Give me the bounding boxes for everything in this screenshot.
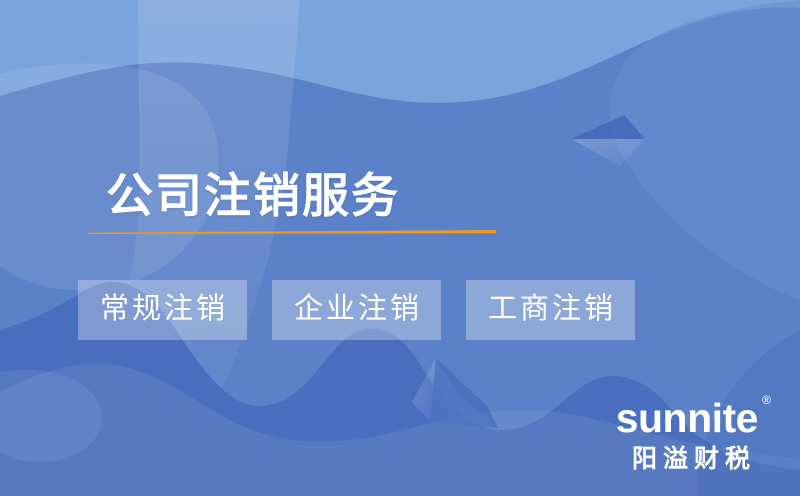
banner-canvas: 公司注销服务 常规注销 企业注销 工商注销 sunnite ® 阳溢财税 bbox=[0, 0, 800, 496]
logo-wordmark-wrap: sunnite ® bbox=[616, 398, 758, 439]
tag-button-label: 常规注销 bbox=[100, 295, 228, 324]
tag-button-enterprise-deregistration[interactable]: 企业注销 bbox=[272, 280, 441, 340]
divider-shape bbox=[88, 230, 496, 234]
title-divider bbox=[88, 230, 496, 234]
company-logo: sunnite ® 阳溢财税 bbox=[616, 398, 758, 472]
logo-wordmark: sunnite bbox=[616, 398, 758, 439]
registered-trademark-icon: ® bbox=[762, 394, 771, 406]
page-title: 公司注销服务 bbox=[106, 172, 400, 219]
tag-button-business-deregistration[interactable]: 工商注销 bbox=[466, 280, 635, 340]
logo-subtitle: 阳溢财税 bbox=[616, 447, 758, 472]
content-layer: 公司注销服务 常规注销 企业注销 工商注销 sunnite ® 阳溢财税 bbox=[0, 0, 800, 496]
tag-button-row: 常规注销 企业注销 工商注销 bbox=[78, 280, 635, 340]
tag-button-regular-deregistration[interactable]: 常规注销 bbox=[78, 280, 247, 340]
tag-button-label: 企业注销 bbox=[294, 295, 422, 324]
tag-button-label: 工商注销 bbox=[488, 295, 616, 324]
